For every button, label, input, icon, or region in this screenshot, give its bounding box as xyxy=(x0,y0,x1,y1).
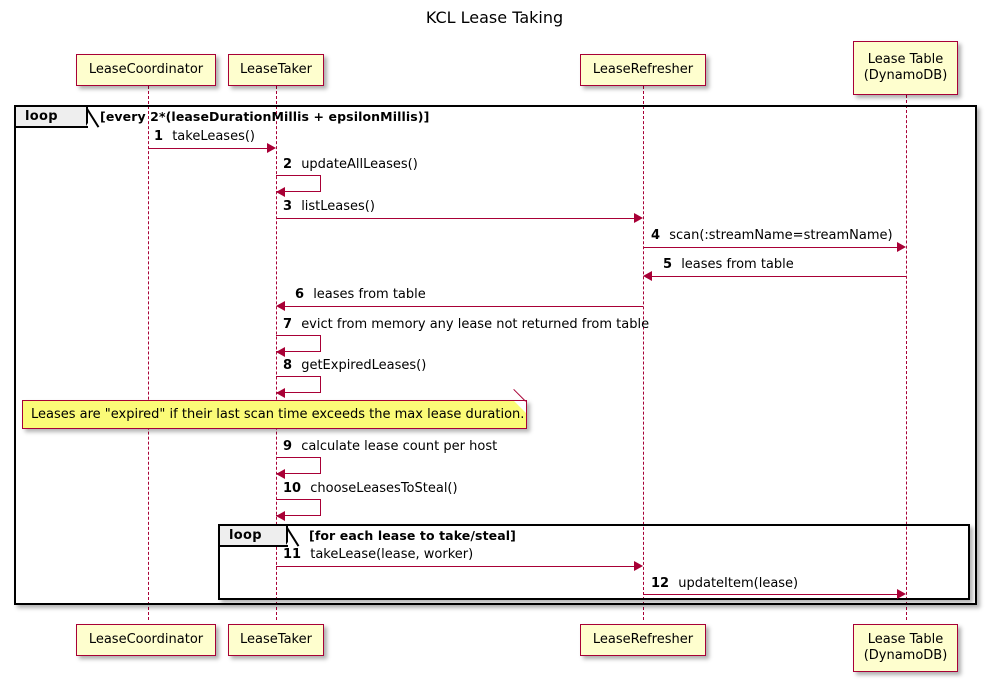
message-7-number: 7 xyxy=(283,317,292,332)
participant-lease-refresher-top[interactable]: LeaseRefresher xyxy=(580,54,706,86)
message-5-text: leases from table xyxy=(681,257,794,272)
message-6-number: 6 xyxy=(295,287,304,302)
message-9-number: 9 xyxy=(283,439,292,454)
message-4-label: 4 scan(:streamName=streamName) xyxy=(651,228,893,243)
message-6-text: leases from table xyxy=(313,287,426,302)
frame-outer-loop-label: loop xyxy=(16,107,88,128)
message-12-arrowhead xyxy=(897,589,906,599)
note-text: Leases are "expired" if their last scan … xyxy=(31,407,524,422)
message-10-arrowhead xyxy=(276,511,285,521)
message-10-label: 10 chooseLeasesToSteal() xyxy=(283,481,458,496)
message-9-label: 9 calculate lease count per host xyxy=(283,439,497,454)
frame-label-text: loop xyxy=(229,528,262,543)
message-1-text: takeLeases() xyxy=(172,129,255,144)
message-4-text: scan(:streamName=streamName) xyxy=(669,228,892,243)
message-2-label: 2 updateAllLeases() xyxy=(283,157,418,172)
message-11-number: 11 xyxy=(283,547,301,562)
frame-outer-loop-guard: [every 2*(leaseDurationMillis + epsilonM… xyxy=(100,109,429,124)
frame-inner-loop-label: loop xyxy=(220,526,288,547)
message-8-arrowhead xyxy=(276,388,285,398)
message-10-number: 10 xyxy=(283,481,301,496)
message-1-arrowhead xyxy=(267,143,276,153)
participant-label: Lease Table (DynamoDB) xyxy=(864,52,948,84)
note-expired-leases: Leases are "expired" if their last scan … xyxy=(22,400,527,429)
frame-inner-loop-guard: [for each lease to take/steal] xyxy=(309,528,516,543)
participant-lease-taker-top[interactable]: LeaseTaker xyxy=(228,54,324,86)
message-2-number: 2 xyxy=(283,157,292,172)
message-3-label: 3 listLeases() xyxy=(283,199,375,214)
frame-label-notch xyxy=(86,107,98,126)
participant-label: LeaseCoordinator xyxy=(89,62,203,78)
message-5-number: 5 xyxy=(663,257,672,272)
message-11-arrowhead xyxy=(634,561,643,571)
message-7-label: 7 evict from memory any lease not return… xyxy=(283,317,649,332)
message-3-number: 3 xyxy=(283,199,292,214)
message-3-arrowhead xyxy=(634,213,643,223)
message-12-text: updateItem(lease) xyxy=(678,576,798,591)
message-9-text: calculate lease count per host xyxy=(301,439,497,454)
message-2-arrowhead xyxy=(276,187,285,197)
message-4-number: 4 xyxy=(651,228,660,243)
message-7-arrowhead xyxy=(276,347,285,357)
message-11-label: 11 takeLease(lease, worker) xyxy=(283,547,473,562)
message-11-text: takeLease(lease, worker) xyxy=(310,547,473,562)
participant-label: LeaseRefresher xyxy=(593,62,693,78)
frame-label-notch xyxy=(286,526,298,545)
message-12-number: 12 xyxy=(651,576,669,591)
message-5-arrowhead xyxy=(643,271,652,281)
page-title: KCL Lease Taking xyxy=(0,8,989,27)
message-12-label: 12 updateItem(lease) xyxy=(651,576,798,591)
message-1-label: 1 takeLeases() xyxy=(154,129,255,144)
participant-lease-taker-bottom[interactable]: LeaseTaker xyxy=(228,624,324,656)
message-8-text: getExpiredLeases() xyxy=(301,358,426,373)
message-5-label: 5 leases from table xyxy=(663,257,794,272)
participant-label: Lease Table (DynamoDB) xyxy=(864,632,948,664)
message-4-arrowhead xyxy=(897,242,906,252)
participant-label: LeaseTaker xyxy=(240,632,312,648)
message-8-number: 8 xyxy=(283,358,292,373)
frame-label-text: loop xyxy=(25,109,58,124)
message-3-text: listLeases() xyxy=(301,199,375,214)
note-fold-corner xyxy=(514,401,526,413)
message-1-number: 1 xyxy=(154,129,163,144)
participant-label: LeaseRefresher xyxy=(593,632,693,648)
message-2-text: updateAllLeases() xyxy=(301,157,418,172)
message-10-text: chooseLeasesToSteal() xyxy=(310,481,457,496)
message-8-label: 8 getExpiredLeases() xyxy=(283,358,426,373)
message-6-label: 6 leases from table xyxy=(295,287,426,302)
message-9-arrowhead xyxy=(276,469,285,479)
participant-lease-table-bottom[interactable]: Lease Table (DynamoDB) xyxy=(853,624,958,672)
participant-lease-refresher-bottom[interactable]: LeaseRefresher xyxy=(580,624,706,656)
sequence-diagram: KCL Lease Taking LeaseCoordinator LeaseT… xyxy=(0,0,989,681)
participant-label: LeaseTaker xyxy=(240,62,312,78)
participant-label: LeaseCoordinator xyxy=(89,632,203,648)
message-6-arrowhead xyxy=(276,301,285,311)
message-7-text: evict from memory any lease not returned… xyxy=(301,317,649,332)
participant-lease-table-top[interactable]: Lease Table (DynamoDB) xyxy=(853,41,958,95)
participant-lease-coordinator-top[interactable]: LeaseCoordinator xyxy=(76,54,216,86)
participant-lease-coordinator-bottom[interactable]: LeaseCoordinator xyxy=(76,624,216,656)
